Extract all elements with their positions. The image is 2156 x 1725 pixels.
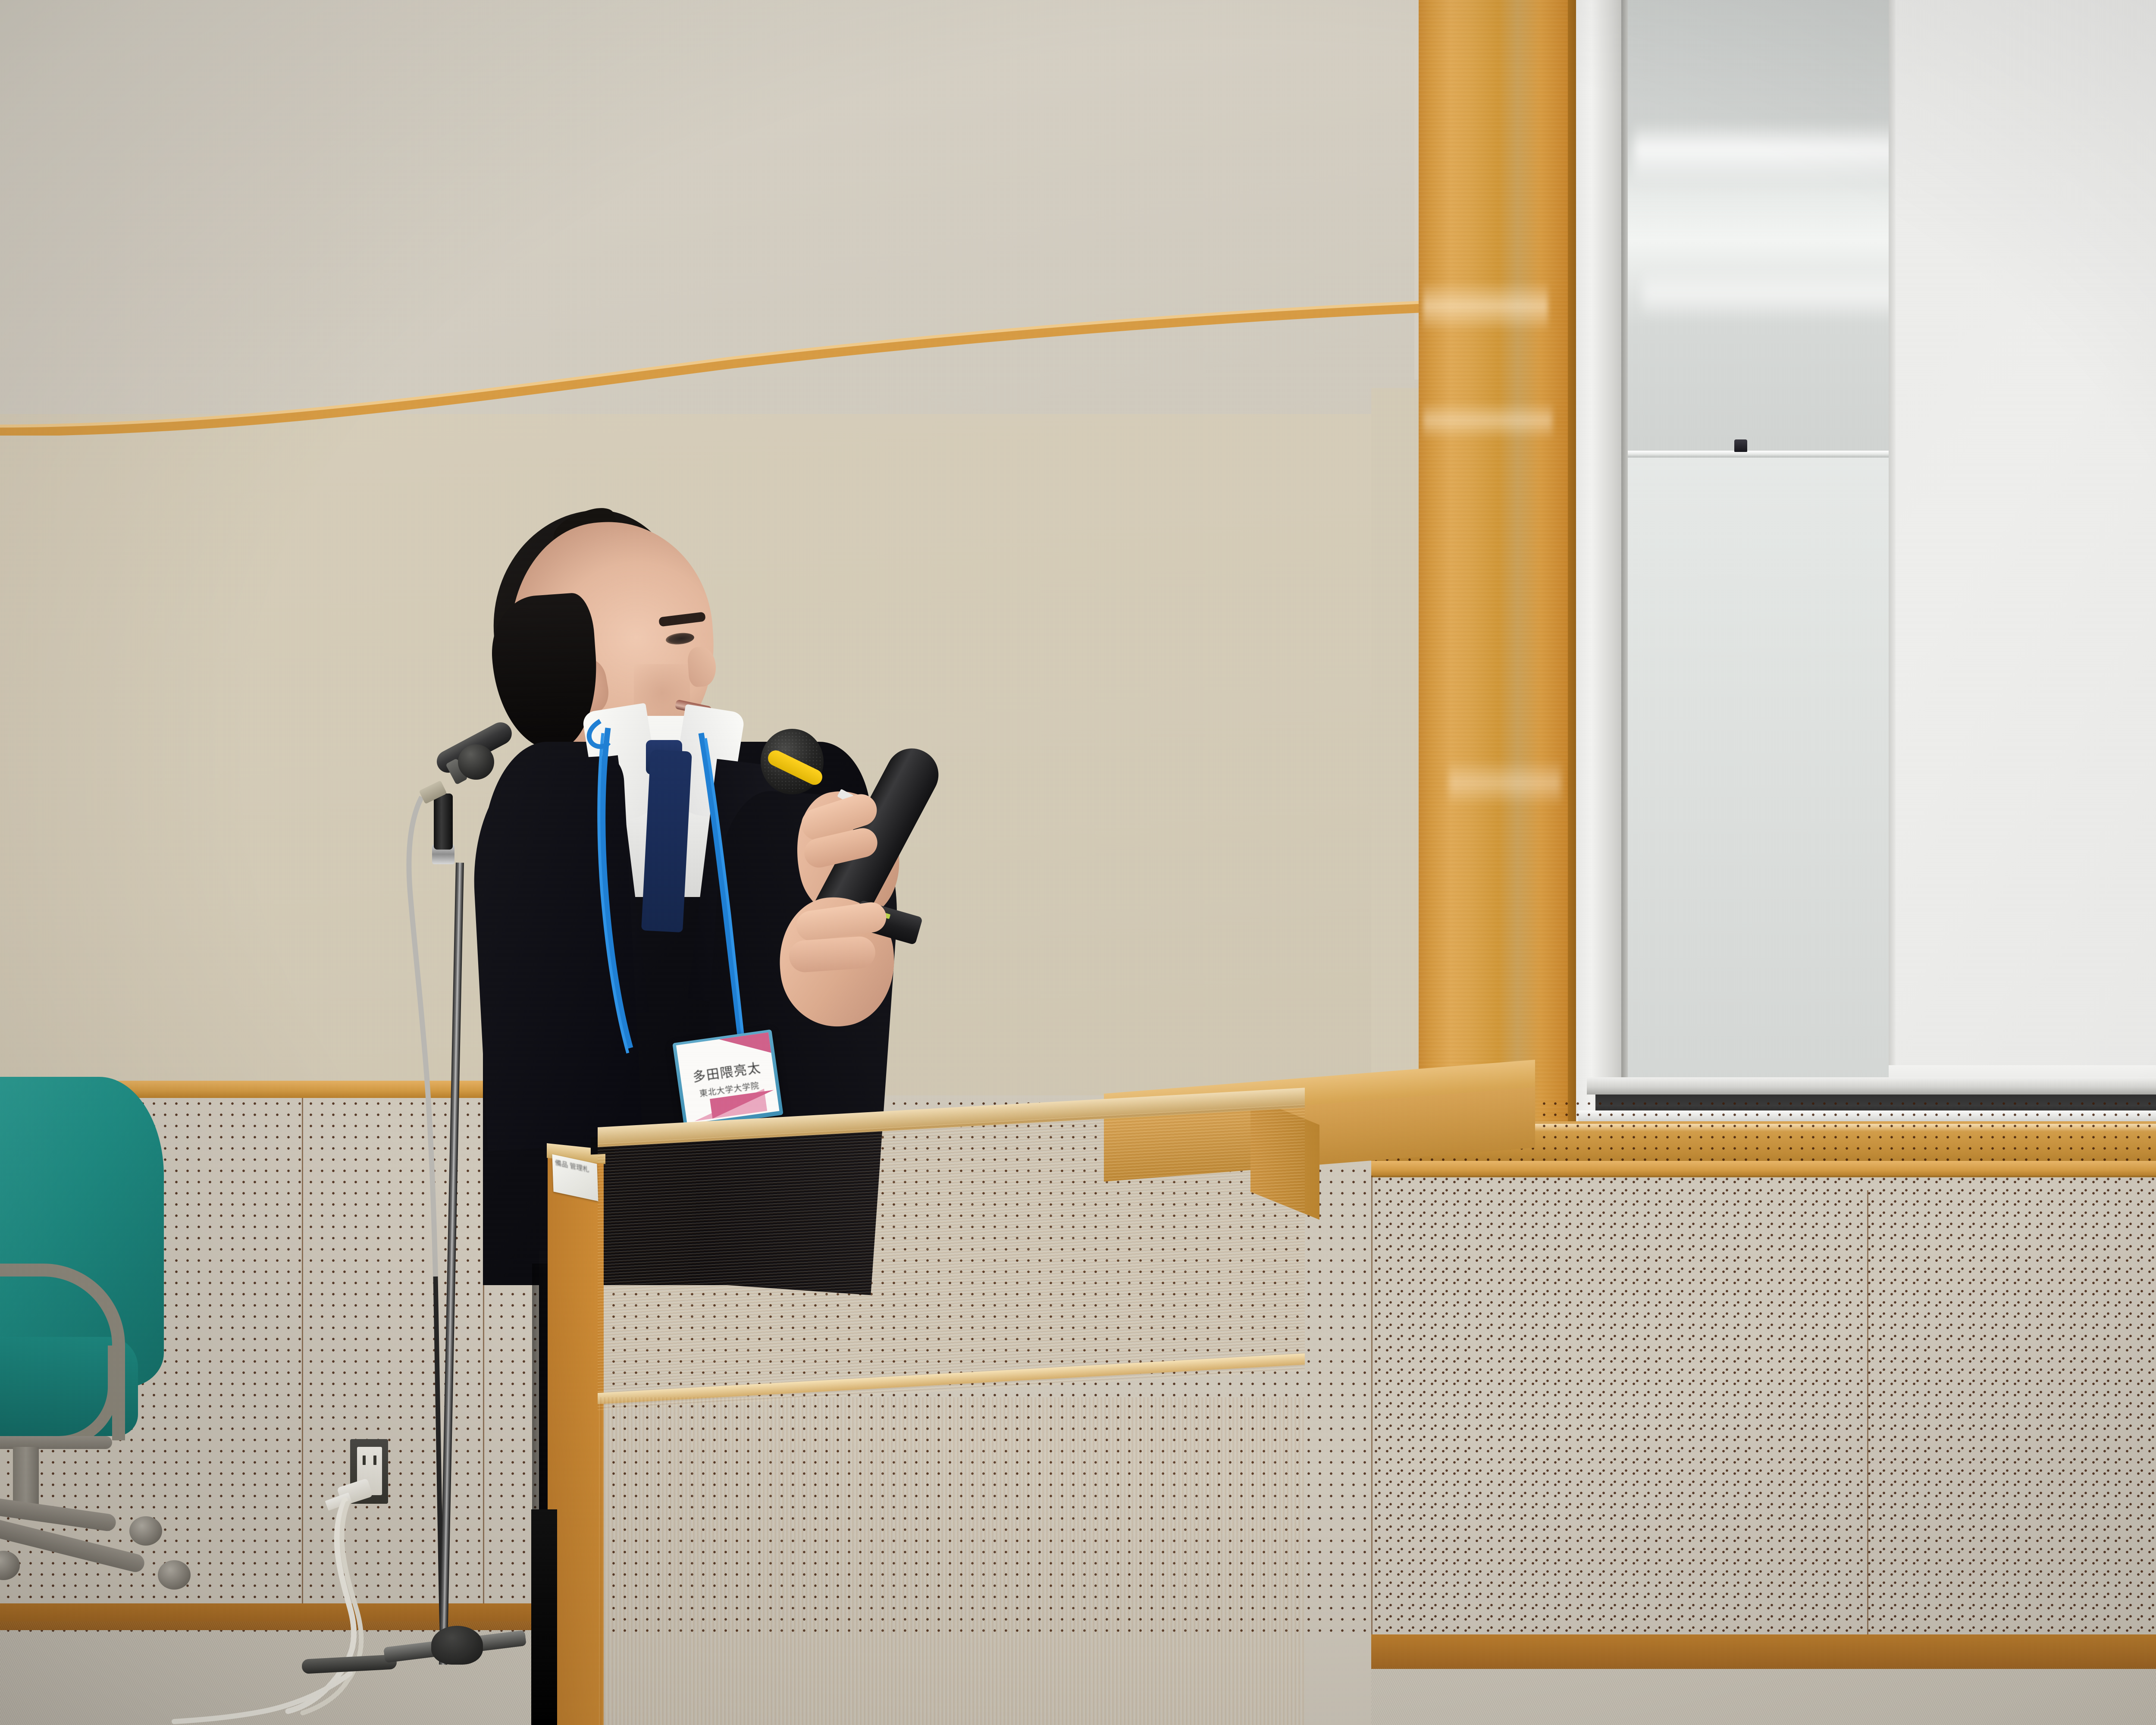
wooden-lectern-lower-panel[interactable] xyxy=(598,1397,1305,1725)
gray-carpet-floor-right xyxy=(1371,1667,2156,1725)
left-hand-thumb xyxy=(788,935,877,973)
whiteboard-front-edge xyxy=(1889,0,1896,1104)
perforated-acoustic-wainscot-right xyxy=(1371,1171,2156,1641)
board-gloss-2 xyxy=(1643,267,1910,319)
wainscot-seam xyxy=(1867,1190,1868,1660)
name-badge-holder[interactable]: 多田隈亮太 東北大学大学院 xyxy=(672,1029,783,1129)
wainscot-seam xyxy=(1371,1176,1373,1646)
sliding-whiteboard-back-lower[interactable] xyxy=(1628,457,1917,1082)
wainscot-top-trim-right xyxy=(1371,1161,2156,1176)
board-gloss-1 xyxy=(1634,121,1910,185)
mic-stand-flexible-neck xyxy=(434,793,453,850)
marker-tray xyxy=(1628,451,1917,458)
suit-shoulder-left xyxy=(468,755,643,1151)
sliding-whiteboard-front[interactable] xyxy=(1889,0,2156,1104)
baseboard-right xyxy=(1371,1634,2156,1669)
presentation-room-photo: 多田隈亮太 東北大学大学院 備品 管理札 Conference presenta… xyxy=(0,0,2156,1725)
aluminium-frame-left xyxy=(1576,0,1628,1130)
mic-stand-base-hub xyxy=(431,1626,483,1665)
column-highlight-3 xyxy=(1449,759,1561,806)
name-badge-card: 多田隈亮太 東北大学大学院 xyxy=(676,1032,780,1124)
column-highlight-1 xyxy=(1423,280,1548,332)
lectern-label-text: 備品 管理札 xyxy=(555,1159,595,1196)
sliding-track-rail-upper xyxy=(1587,1077,2156,1095)
wooden-column xyxy=(1419,0,1578,1121)
column-highlight-2 xyxy=(1423,401,1552,440)
marker-cap[interactable] xyxy=(1734,439,1747,452)
podium-cable-shadow xyxy=(531,1509,557,1725)
stand-microphone-head xyxy=(458,744,494,780)
